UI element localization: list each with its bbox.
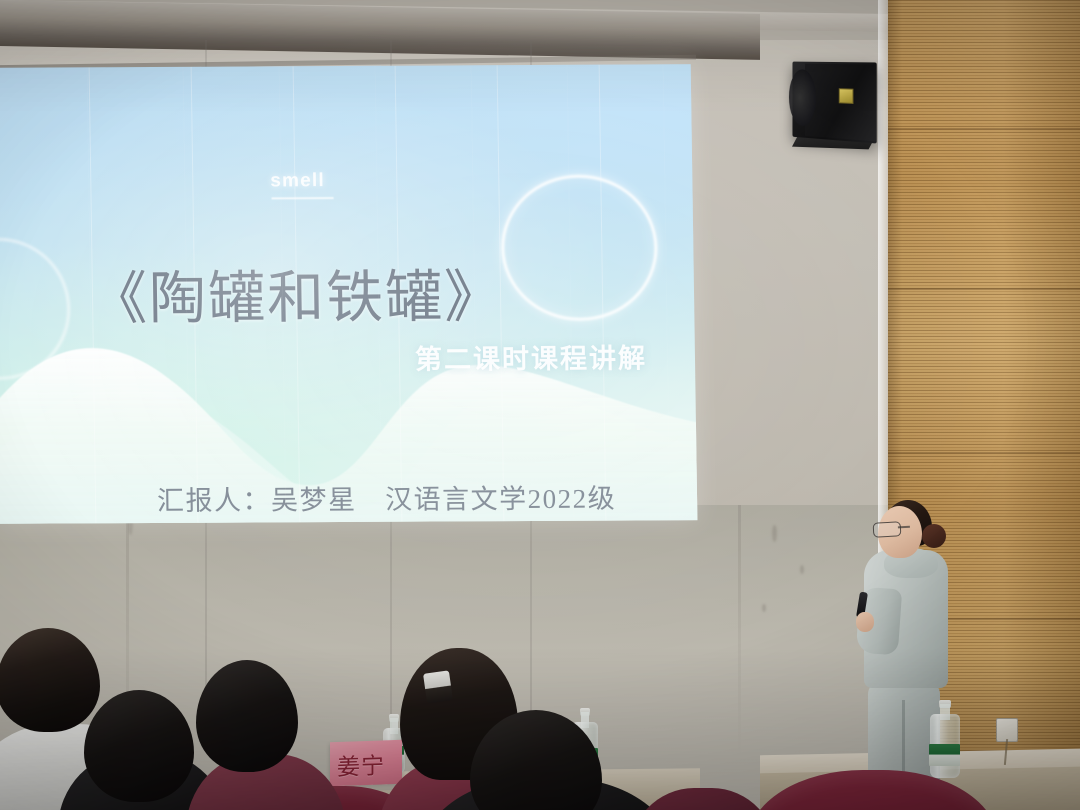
projection-screen: smell 《陶罐和铁罐》 第二课时课程讲解 汇报人：吴梦星 汉语言文学2022… bbox=[0, 64, 697, 524]
wall-seam bbox=[738, 505, 741, 755]
speaker-badge bbox=[839, 88, 854, 104]
lecture-photo-scene: smell 《陶罐和铁罐》 第二课时课程讲解 汇报人：吴梦星 汉语言文学2022… bbox=[0, 0, 1080, 810]
decor-ring-large-icon bbox=[500, 174, 658, 321]
wall-mark bbox=[772, 525, 777, 542]
hair-clip bbox=[423, 670, 453, 703]
presentation-slide: smell 《陶罐和铁罐》 第二课时课程讲解 汇报人：吴梦星 汉语言文学2022… bbox=[0, 64, 697, 524]
wall-mark bbox=[800, 565, 804, 574]
presenter-hair-bun bbox=[922, 524, 946, 548]
speaker-cone-icon bbox=[789, 69, 816, 127]
slide-logo: smell bbox=[270, 170, 325, 192]
slide-presenter-line: 汇报人：吴梦星 汉语言文学2022级 bbox=[157, 477, 617, 518]
slide-logo-underline bbox=[272, 197, 334, 199]
presenter-hand bbox=[856, 612, 874, 632]
slide-subtitle: 第二课时课程讲解 bbox=[415, 336, 648, 376]
slide-title: 《陶罐和铁罐》 bbox=[89, 251, 503, 335]
book-title: 姜宁 bbox=[337, 746, 385, 782]
book-on-desk: 姜宁 bbox=[330, 740, 402, 787]
wall-speaker bbox=[792, 62, 876, 144]
wall-mark bbox=[762, 604, 766, 612]
presenter-glasses-icon bbox=[873, 521, 902, 537]
water-bottle bbox=[930, 700, 960, 778]
